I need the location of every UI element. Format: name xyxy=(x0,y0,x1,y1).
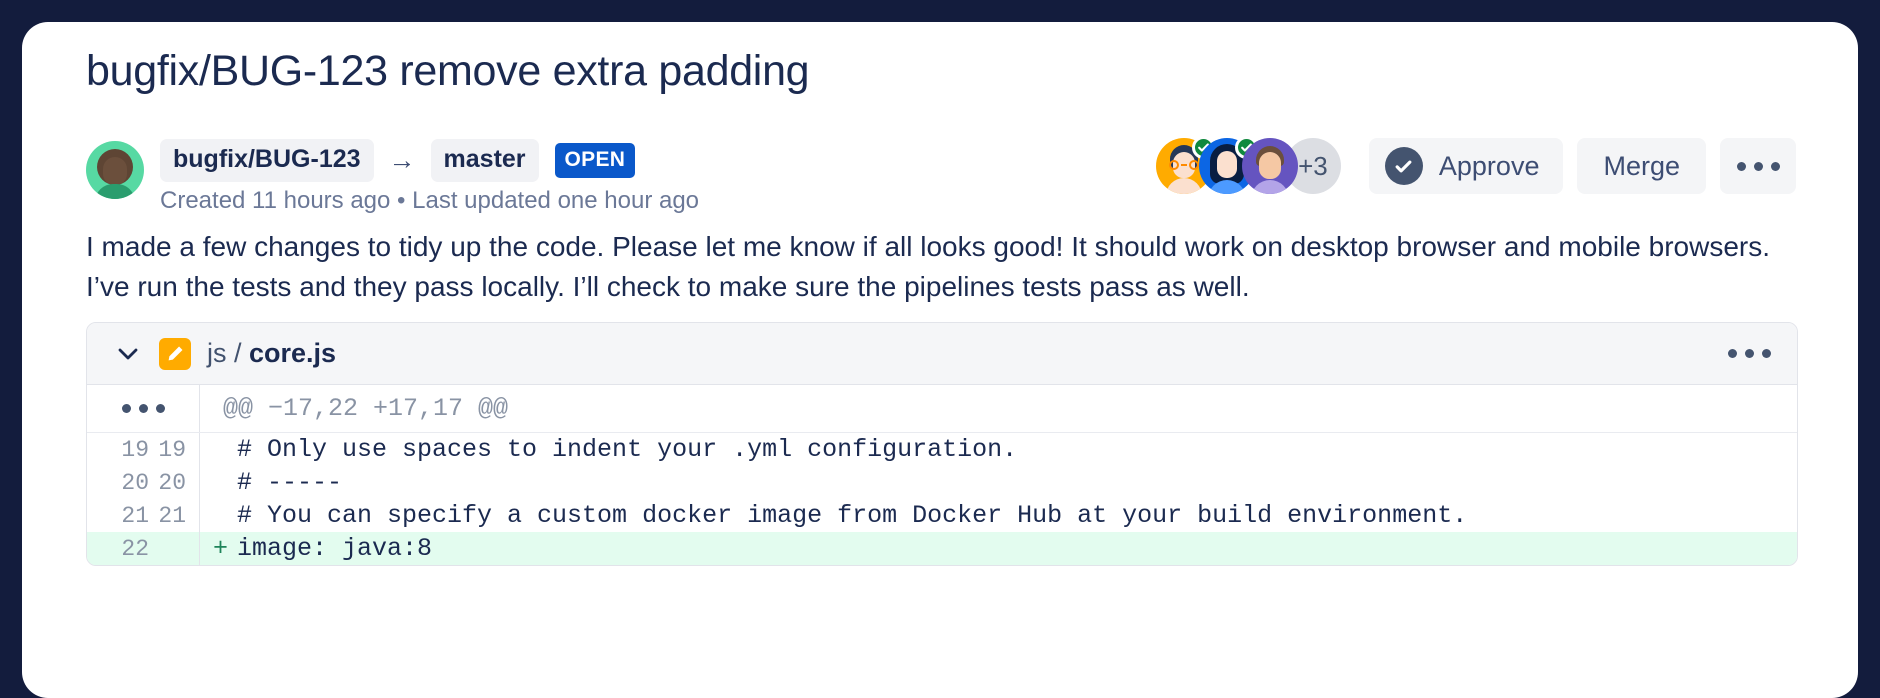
diff-line-sign: + xyxy=(213,534,237,563)
avatar-face xyxy=(103,157,127,185)
diff-panel: js / core.js @@ −17,22 +17,17 @@ 19 19 #… xyxy=(86,322,1798,566)
avatar-body xyxy=(1166,178,1202,194)
diff-file-header[interactable]: js / core.js xyxy=(87,323,1797,385)
reviewer-avatar-3-disc xyxy=(1242,138,1298,194)
branch-line: bugfix/BUG-123 → master OPEN xyxy=(160,138,635,182)
ellipsis-icon xyxy=(122,404,165,413)
page-title: bugfix/BUG-123 remove extra padding xyxy=(86,47,809,96)
file-name: core.js xyxy=(249,338,336,368)
line-number-old: 20 xyxy=(121,470,149,496)
diff-line-row: 19 19 # Only use spaces to indent your .… xyxy=(87,433,1797,466)
timestamps: Created 11 hours ago • Last updated one … xyxy=(160,187,699,215)
pull-request-meta-row: bugfix/BUG-123 → master OPEN Created 11 … xyxy=(86,130,1796,212)
merge-button[interactable]: Merge xyxy=(1577,138,1706,194)
diff-line-text: # Only use spaces to indent your .yml co… xyxy=(237,435,1017,464)
diff-file-path[interactable]: js / core.js xyxy=(207,338,336,369)
edit-pencil-icon xyxy=(159,338,191,370)
diff-more-actions-icon[interactable] xyxy=(1728,349,1771,358)
diff-line-text: # ----- xyxy=(237,468,342,497)
line-number-old: 21 xyxy=(121,503,149,529)
diff-line-sign xyxy=(213,468,237,497)
source-branch-chip[interactable]: bugfix/BUG-123 xyxy=(160,139,374,182)
line-number-new: 21 xyxy=(158,503,186,529)
avatar-body xyxy=(1251,180,1289,194)
diff-line-content[interactable]: +image: java:8 xyxy=(200,532,1797,565)
ellipsis-icon xyxy=(1737,162,1780,171)
action-bar: +3 Approve Merge xyxy=(1156,138,1796,194)
line-number-new: 19 xyxy=(158,437,186,463)
glasses-icon xyxy=(1167,160,1201,170)
merge-button-label: Merge xyxy=(1603,151,1680,182)
line-number-new: 20 xyxy=(158,470,186,496)
check-circle-icon xyxy=(1385,147,1423,185)
author-avatar[interactable] xyxy=(86,141,144,199)
line-number-old: 19 xyxy=(121,437,149,463)
more-actions-button[interactable] xyxy=(1720,138,1796,194)
diff-line-text: # You can specify a custom docker image … xyxy=(237,501,1467,530)
diff-line-sign xyxy=(213,435,237,464)
diff-line-content[interactable]: # Only use spaces to indent your .yml co… xyxy=(200,433,1797,466)
line-number-old: 22 xyxy=(121,536,149,562)
diff-line-content[interactable]: # You can specify a custom docker image … xyxy=(200,499,1797,532)
description-text: I made a few changes to tidy up the code… xyxy=(86,227,1776,307)
diff-line-row-added: 22 +image: java:8 xyxy=(87,532,1797,565)
line-number-gutter: 22 xyxy=(87,532,200,565)
diff-hunk-row: @@ −17,22 +17,17 @@ xyxy=(87,385,1797,433)
branch-arrow-icon: → xyxy=(389,147,416,174)
line-number-gutter: 21 21 xyxy=(87,499,200,532)
status-badge: OPEN xyxy=(555,143,636,178)
diff-line-content[interactable]: # ----- xyxy=(200,466,1797,499)
approve-button[interactable]: Approve xyxy=(1369,138,1564,194)
target-branch-chip[interactable]: master xyxy=(431,139,539,182)
avatar-face xyxy=(1217,151,1237,178)
screenshot-frame: bugfix/BUG-123 remove extra padding bugf… xyxy=(0,0,1880,698)
avatar-body xyxy=(95,184,135,199)
line-number-gutter: 20 20 xyxy=(87,466,200,499)
pull-request-card: bugfix/BUG-123 remove extra padding bugf… xyxy=(22,22,1858,698)
chevron-down-icon[interactable] xyxy=(115,341,141,367)
reviewer-avatar-3[interactable] xyxy=(1242,138,1298,194)
hunk-expand-button[interactable] xyxy=(87,385,200,432)
diff-line-sign xyxy=(213,501,237,530)
avatar-face xyxy=(1259,152,1281,179)
diff-line-row: 20 20 # ----- xyxy=(87,466,1797,499)
diff-line-text: image: java:8 xyxy=(237,534,432,563)
diff-line-row: 21 21 # You can specify a custom docker … xyxy=(87,499,1797,532)
hunk-range-label: @@ −17,22 +17,17 @@ xyxy=(200,394,508,423)
reviewer-avatar-group: +3 xyxy=(1156,138,1341,194)
line-number-gutter: 19 19 xyxy=(87,433,200,466)
file-directory: js / xyxy=(207,338,249,368)
approve-button-label: Approve xyxy=(1439,151,1540,182)
